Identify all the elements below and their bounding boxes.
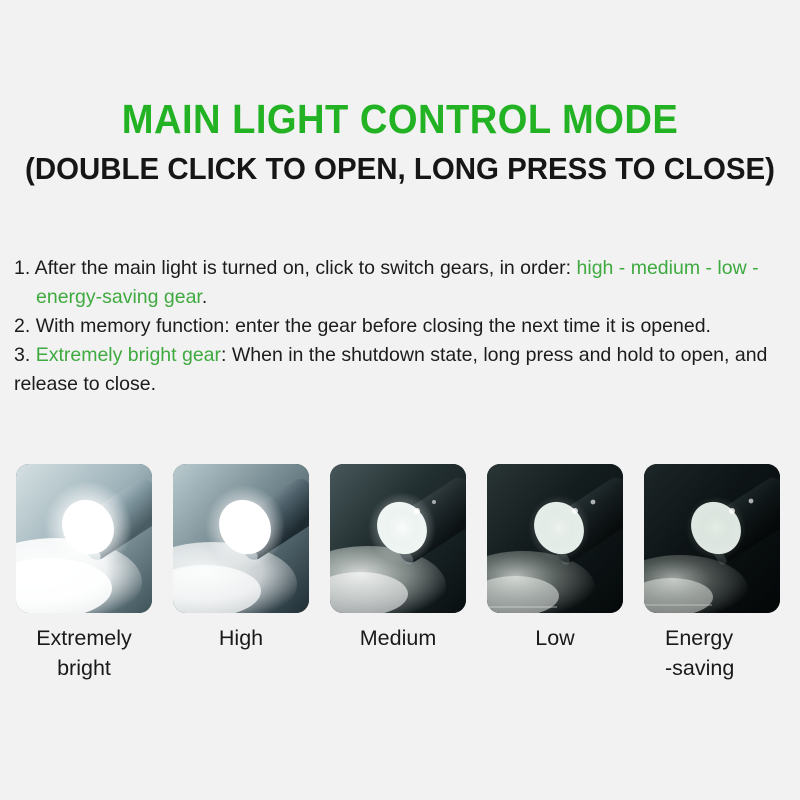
mode-cell-low: Low (487, 464, 623, 683)
instruction-item-1: 1. After the main light is turned on, cl… (14, 254, 790, 312)
instruction-1-text: After the main light is turned on, click… (35, 257, 577, 279)
instruction-item-3: 3. Extremely bright gear: When in the sh… (14, 341, 790, 399)
mode-cell-energy-saving: Energy -saving (644, 464, 780, 683)
header-block: MAIN LIGHT CONTROL MODE (DOUBLE CLICK TO… (0, 96, 800, 188)
instructions-list: 1. After the main light is turned on, cl… (14, 254, 790, 399)
mode-caption-extremely-bright: Extremely bright (16, 623, 152, 683)
mode-photo-high (173, 464, 309, 613)
mode-caption-energy-saving: Energy -saving (644, 623, 780, 683)
flashlight-photo-icon (487, 464, 623, 613)
mode-caption-high: High (173, 623, 309, 653)
mode-photo-low (487, 464, 623, 613)
instruction-3-number: 3. (14, 344, 30, 366)
mode-cell-medium: Medium (330, 464, 466, 683)
mode-photo-energy-saving (644, 464, 780, 613)
page-subtitle: (DOUBLE CLICK TO OPEN, LONG PRESS TO CLO… (20, 150, 780, 188)
mode-caption-medium: Medium (330, 623, 466, 653)
flashlight-photo-icon (644, 464, 780, 613)
flashlight-photo-icon (173, 464, 309, 613)
mode-photo-extremely-bright (16, 464, 152, 613)
product-info-page: MAIN LIGHT CONTROL MODE (DOUBLE CLICK TO… (0, 0, 800, 800)
flashlight-photo-icon (16, 464, 152, 613)
instruction-item-2: 2. With memory function: enter the gear … (14, 312, 790, 341)
instruction-1-number: 1. (14, 257, 30, 279)
instruction-2-text: With memory function: enter the gear bef… (36, 315, 711, 337)
mode-cell-extremely-bright: Extremely bright (16, 464, 152, 683)
brightness-mode-strip: Extremely bright (16, 464, 786, 683)
instruction-2-number: 2. (14, 315, 30, 337)
mode-caption-low: Low (487, 623, 623, 653)
instruction-1-period: . (202, 286, 207, 308)
mode-photo-medium (330, 464, 466, 613)
instruction-3-highlight: Extremely bright gear (36, 344, 221, 366)
mode-cell-high: High (173, 464, 309, 683)
page-title: MAIN LIGHT CONTROL MODE (28, 96, 772, 142)
flashlight-photo-icon (330, 464, 466, 613)
